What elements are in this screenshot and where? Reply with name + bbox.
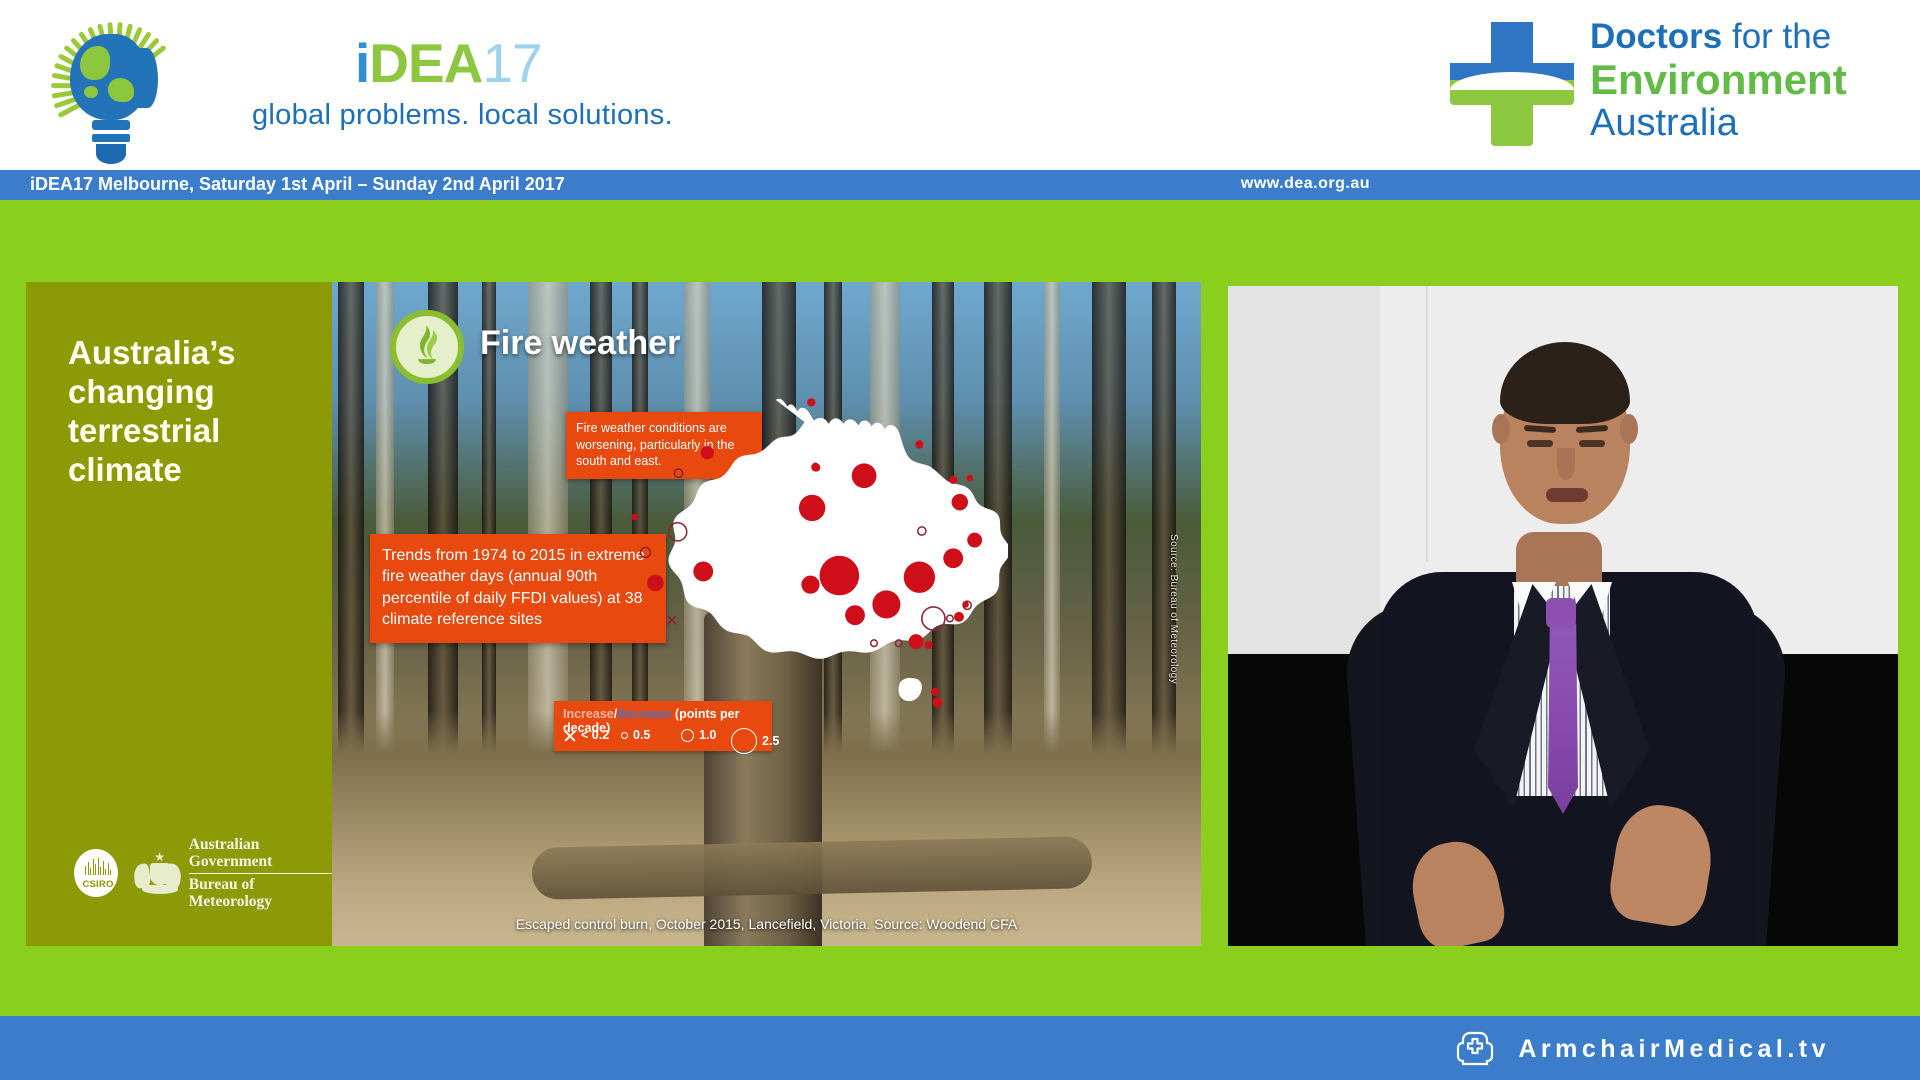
legend-item-3: 2.5 [731, 728, 779, 754]
legend-item-label: 2.5 [762, 734, 779, 748]
legend-item-label: 0.5 [633, 728, 650, 742]
legend-item-2: 1.0 [681, 728, 716, 742]
legend-item-1: 0.5 [621, 728, 650, 742]
medical-cross-icon [1450, 22, 1574, 146]
legend-symbol-row: < 0.20.51.02.5 [563, 728, 763, 748]
map-legend: Increase/decrease (points per decade) < … [554, 701, 772, 751]
australian-coat-of-arms-icon [134, 852, 181, 894]
slide-title-panel: Australia’s changing terrestrial climate… [26, 282, 332, 946]
org-logo-doctors: Doctors [1590, 17, 1722, 56]
bom-label: Bureau of Meteorology [189, 876, 332, 910]
legend-circle-icon [731, 728, 757, 754]
flame-icon [390, 310, 464, 384]
legend-cross-icon [563, 729, 576, 742]
lightbulb-globe-icon [40, 8, 190, 163]
map-source-credit: Source: Bureau of Meteorology [1168, 534, 1179, 684]
event-details-text: iDEA17 Melbourne, Saturday 1st April – S… [30, 174, 565, 195]
ausgov-label: Australian Government [189, 836, 332, 870]
bureau-of-meteorology-logo: Australian Government Bureau of Meteorol… [134, 836, 332, 910]
slide-container: Australia’s changing terrestrial climate… [26, 282, 1201, 946]
legend-increase-label: Increase [563, 707, 614, 721]
conference-tagline: global problems. local solutions. [252, 99, 673, 132]
event-website-link[interactable]: www.dea.org.au [1241, 175, 1370, 193]
csiro-logo-label: CSIRO [74, 879, 122, 890]
dea-organisation-logo: Doctors for the Environment Australia [1450, 14, 1880, 154]
logo-letters-dea: DEA [369, 32, 482, 94]
slide-photo-area: Fire weather Fire weather conditions are… [332, 282, 1201, 946]
legend-item-0: < 0.2 [563, 728, 609, 742]
org-logo-environment: Environment [1590, 58, 1847, 102]
photo-caption: Escaped control burn, October 2015, Lanc… [332, 916, 1201, 932]
event-info-bar: iDEA17 Melbourne, Saturday 1st April – S… [0, 170, 1920, 200]
logo-number-17: 17 [482, 32, 541, 94]
slide-footer-logos: CSIRO Australian Government Bureau of Me… [74, 836, 332, 910]
bottom-brand-bar: ArmchairMedical.tv [0, 1016, 1920, 1080]
page-title: Australia’s changing terrestrial climate [68, 334, 298, 490]
presentation-screen: iDEA17 global problems. local solutions.… [0, 0, 1920, 1080]
legend-circle-icon [621, 732, 628, 739]
armchair-medical-brand[interactable]: ArmchairMedical.tv [1518, 1035, 1830, 1064]
section-heading: Fire weather [480, 324, 680, 363]
australia-trend-map [608, 385, 1008, 715]
armchair-medical-cross-icon [1454, 1028, 1496, 1070]
logo-letter-i: i [355, 32, 369, 94]
speaker-video-feed[interactable] [1228, 286, 1898, 946]
org-logo-forthe: for the [1722, 17, 1831, 56]
legend-circle-icon [681, 729, 694, 742]
speaker-tie [1548, 624, 1578, 814]
legend-item-label: < 0.2 [581, 728, 609, 742]
header-bar: iDEA17 global problems. local solutions.… [0, 0, 1920, 170]
org-logo-australia: Australia [1590, 102, 1847, 144]
legend-item-label: 1.0 [699, 728, 716, 742]
csiro-logo-icon: CSIRO [74, 849, 118, 897]
conference-logo-wordmark: iDEA17 [355, 36, 542, 91]
legend-decrease-label: decrease [617, 707, 671, 721]
